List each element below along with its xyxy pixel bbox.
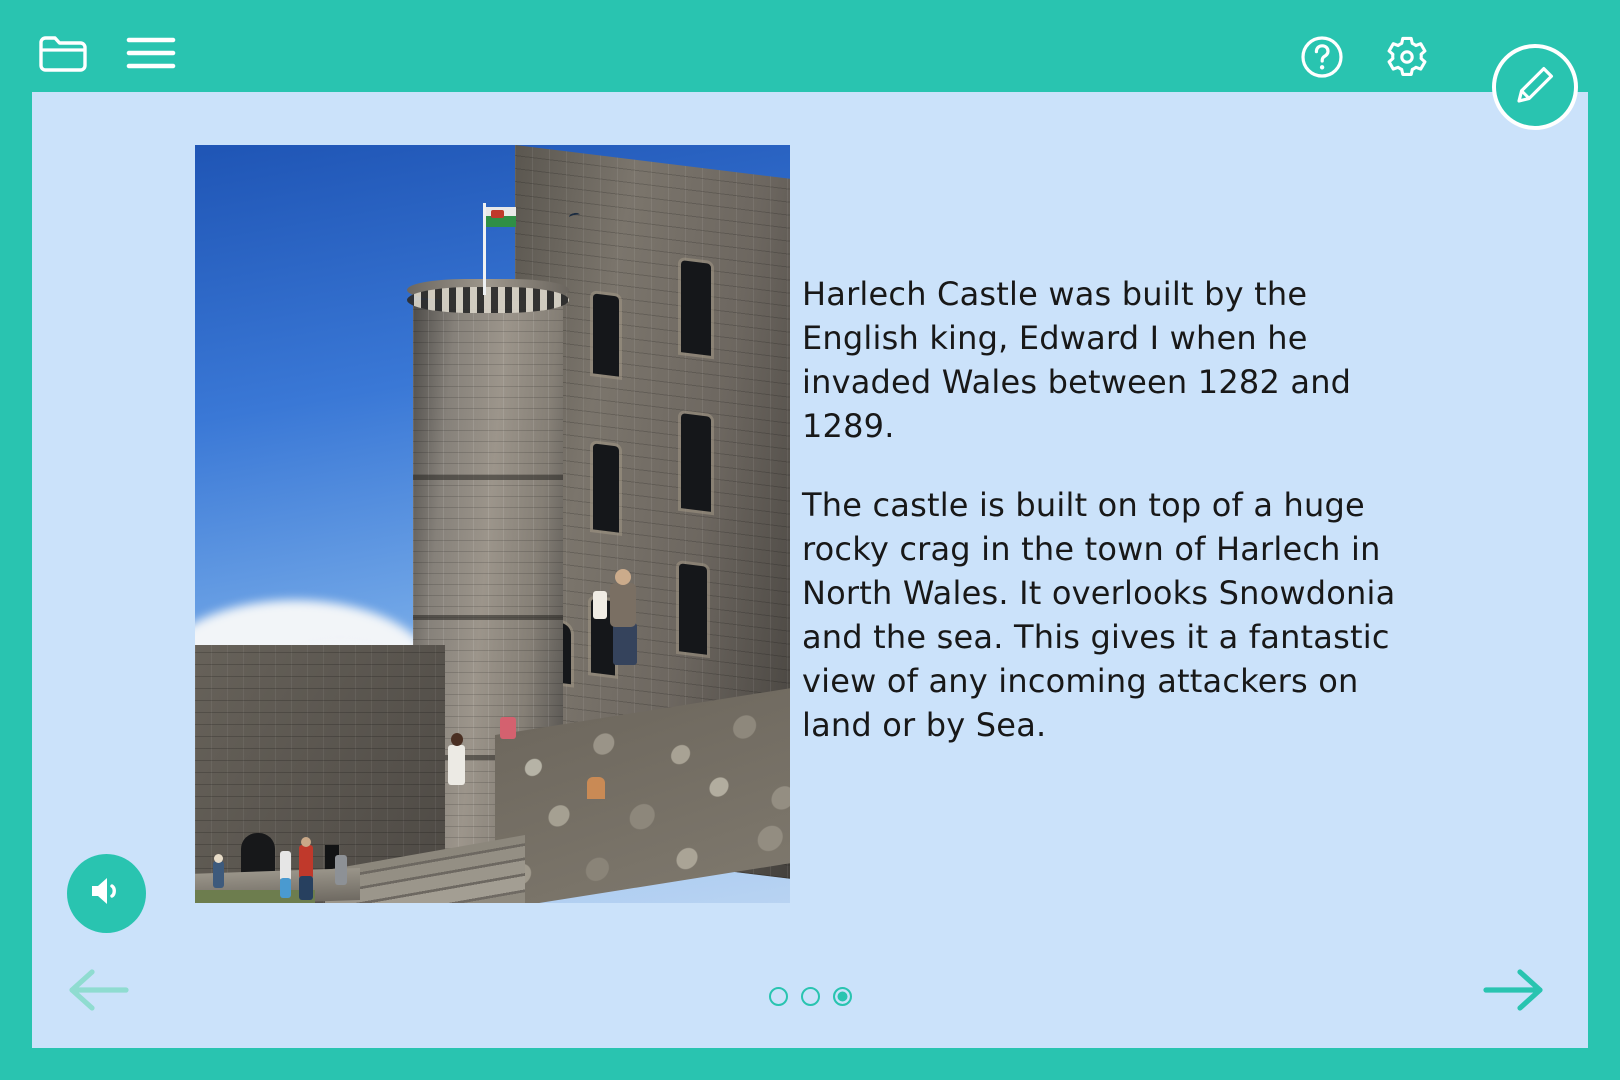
tower-band [413, 475, 563, 480]
paragraph-2: The castle is built on top of a huge roc… [802, 483, 1422, 748]
content-panel: Harlech Castle was built by the English … [32, 92, 1588, 1048]
visitor [280, 851, 291, 881]
visitor [587, 777, 605, 799]
visitor [280, 878, 291, 898]
visitor-head [615, 569, 631, 585]
slide-content: Harlech Castle was built by the English … [32, 92, 1588, 982]
visitor-bag [593, 591, 607, 619]
pencil-icon [1512, 62, 1558, 113]
help-icon[interactable] [1300, 35, 1344, 79]
flag-dragon [491, 210, 504, 218]
visitor-head [214, 854, 223, 863]
grass-patch [195, 890, 315, 903]
visitor-head [451, 733, 463, 746]
harlech-castle-photo[interactable] [195, 145, 790, 903]
pagination-dots [32, 987, 1588, 1006]
paragraph-1: Harlech Castle was built by the English … [802, 272, 1422, 449]
castle-window [679, 563, 707, 654]
top-toolbar [0, 0, 1620, 92]
menu-icon[interactable] [126, 35, 176, 71]
castle-window [681, 260, 711, 356]
visitor-head [301, 837, 311, 847]
visitor [448, 745, 465, 785]
slide-text: Harlech Castle was built by the English … [802, 272, 1422, 748]
visitor [213, 861, 224, 888]
visitor [335, 855, 347, 885]
visitor [299, 876, 313, 900]
folder-icon[interactable] [38, 32, 88, 74]
edit-button[interactable] [1492, 44, 1578, 130]
tower-battlements [407, 287, 569, 313]
visitor [610, 583, 636, 627]
pagination-dot-2[interactable] [801, 987, 820, 1006]
toolbar-right-group [1300, 34, 1430, 80]
toolbar-left-group [38, 32, 176, 74]
castle-window [593, 293, 619, 376]
castle-window [593, 443, 619, 532]
pagination-dot-1[interactable] [769, 987, 788, 1006]
pagination-dot-3[interactable] [833, 987, 852, 1006]
visitor-legs [613, 623, 637, 665]
speaker-icon [87, 873, 127, 914]
gear-icon[interactable] [1384, 34, 1430, 80]
photo-illustration [195, 145, 790, 903]
visitor [299, 845, 313, 879]
castle-window [681, 413, 711, 512]
visitor [500, 717, 516, 739]
tower-band [413, 615, 563, 620]
app-root: Harlech Castle was built by the English … [0, 0, 1620, 1080]
sound-button[interactable] [67, 854, 146, 933]
